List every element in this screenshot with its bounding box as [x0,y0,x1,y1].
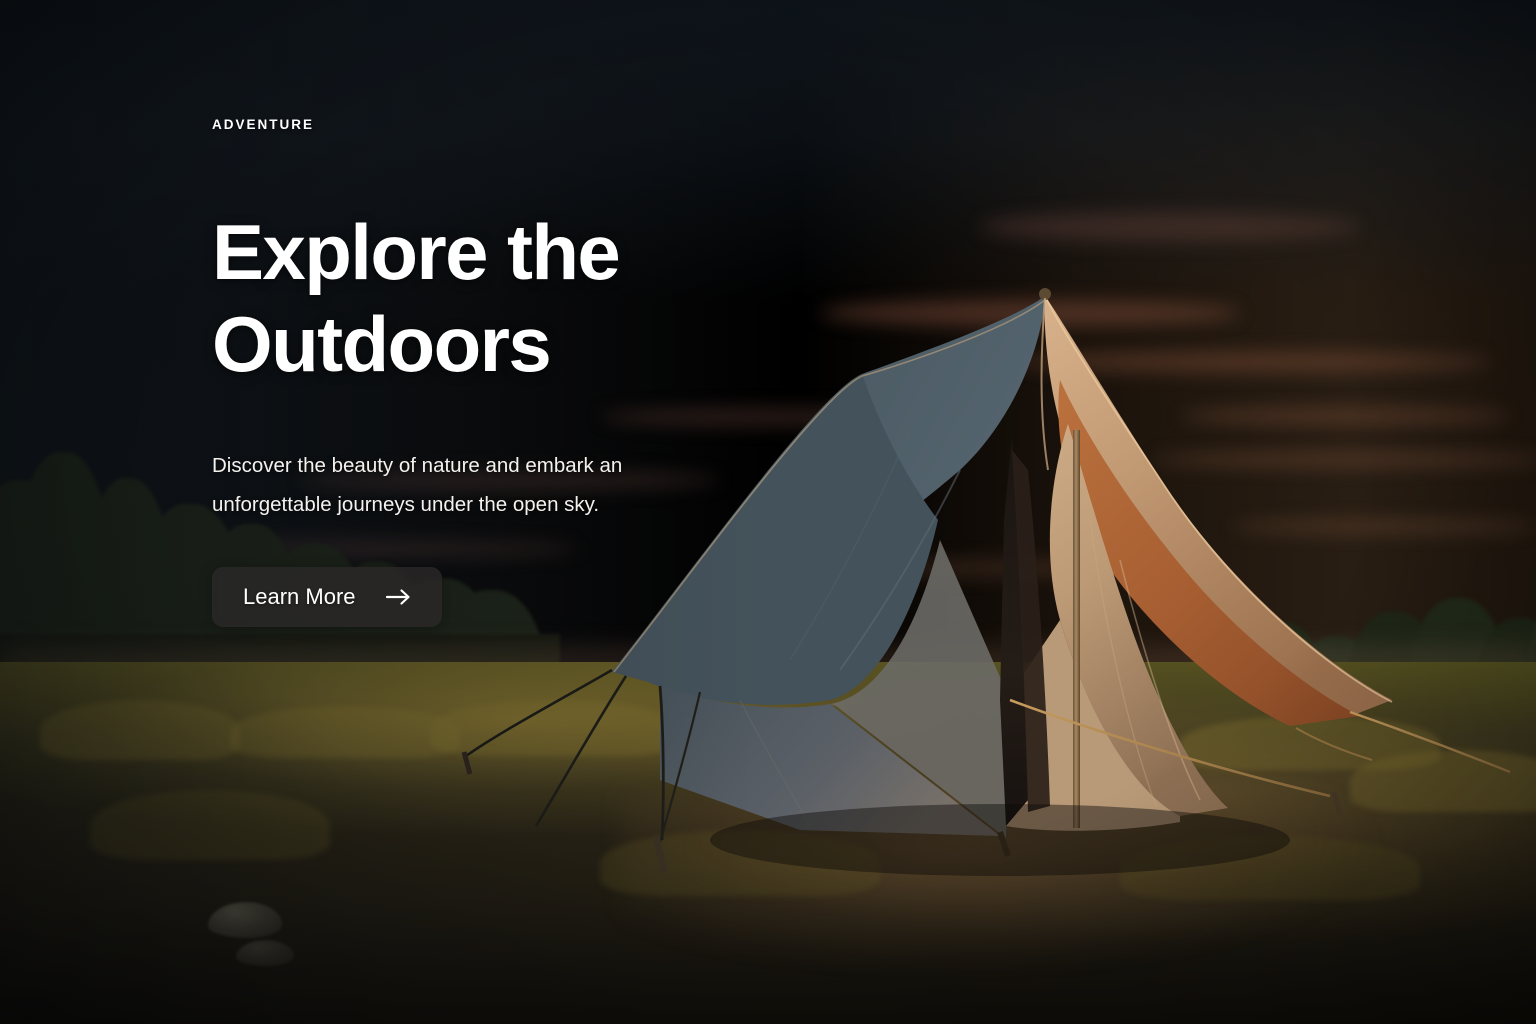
headline-line-1: Explore the [212,208,619,296]
guy-rope [1296,728,1372,760]
guy-rope [1350,712,1510,772]
tent-stake [1334,792,1340,816]
page-title: Explore the Outdoors [212,206,732,390]
learn-more-button[interactable]: Learn More [212,567,442,627]
hero-subcopy: Discover the beauty of nature and embark… [212,446,632,524]
tent-stake [656,836,664,872]
tent-center-pole [1073,430,1080,828]
eyebrow-label: ADVENTURE [212,118,852,132]
tent-ground-shadow [710,804,1290,876]
hero-copy-block: ADVENTURE Explore the Outdoors Discover … [212,118,852,627]
guy-rope [536,676,626,826]
arrow-right-icon [386,588,412,606]
guy-rope [466,670,612,756]
hero-banner: ADVENTURE Explore the Outdoors Discover … [0,0,1536,1024]
headline-line-2: Outdoors [212,300,550,388]
learn-more-label: Learn More [243,586,356,608]
